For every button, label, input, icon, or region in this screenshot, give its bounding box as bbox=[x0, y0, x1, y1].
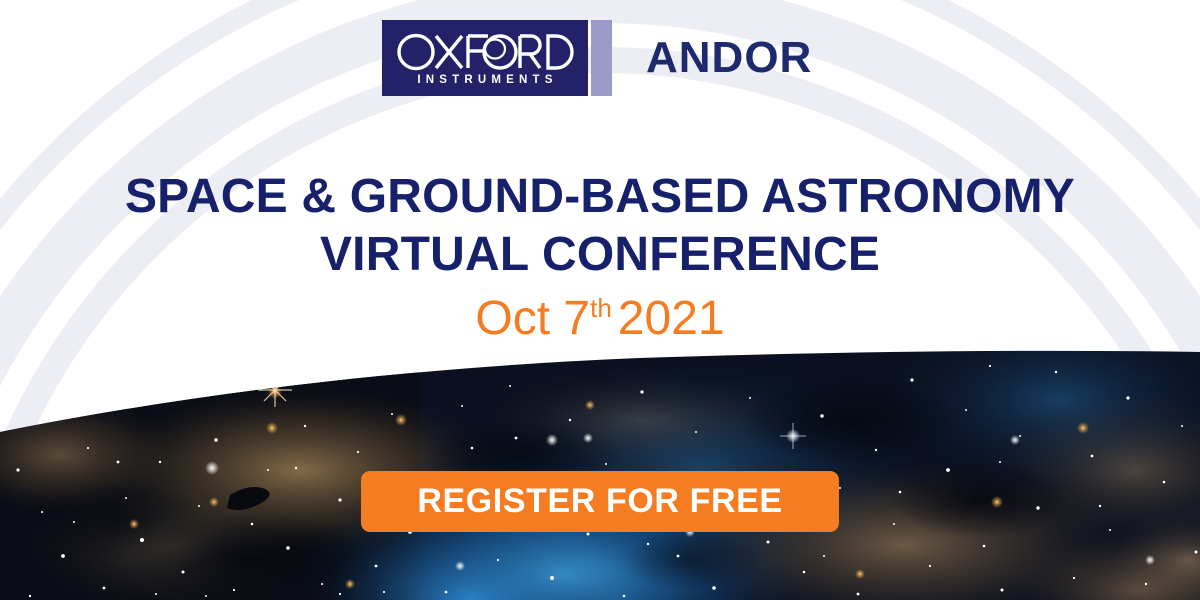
event-date-year: 2021 bbox=[618, 292, 725, 345]
lockup-divider bbox=[591, 20, 612, 96]
oxford-instruments-logo: INSTRUMENTS bbox=[382, 20, 588, 96]
brand-lockup: INSTRUMENTS ANDOR bbox=[382, 20, 812, 96]
event-date: Oct 7th2021 bbox=[0, 290, 1200, 348]
register-for-free-button[interactable]: REGISTER FOR FREE bbox=[361, 471, 839, 532]
promo-banner: INSTRUMENTS ANDOR SPACE & GROUND-BASED A… bbox=[0, 0, 1200, 600]
oxford-wordmark-icon bbox=[396, 32, 574, 72]
title-line-1: SPACE & GROUND-BASED ASTRONOMY bbox=[0, 168, 1200, 226]
title-line-2: VIRTUAL CONFERENCE bbox=[0, 226, 1200, 284]
event-date-ordinal: th bbox=[590, 293, 612, 323]
andor-wordmark: ANDOR bbox=[646, 20, 812, 96]
oxford-instruments-subtitle: INSTRUMENTS bbox=[412, 75, 557, 87]
page-title: SPACE & GROUND-BASED ASTRONOMY VIRTUAL C… bbox=[0, 168, 1200, 284]
event-date-day: Oct 7 bbox=[475, 292, 590, 345]
